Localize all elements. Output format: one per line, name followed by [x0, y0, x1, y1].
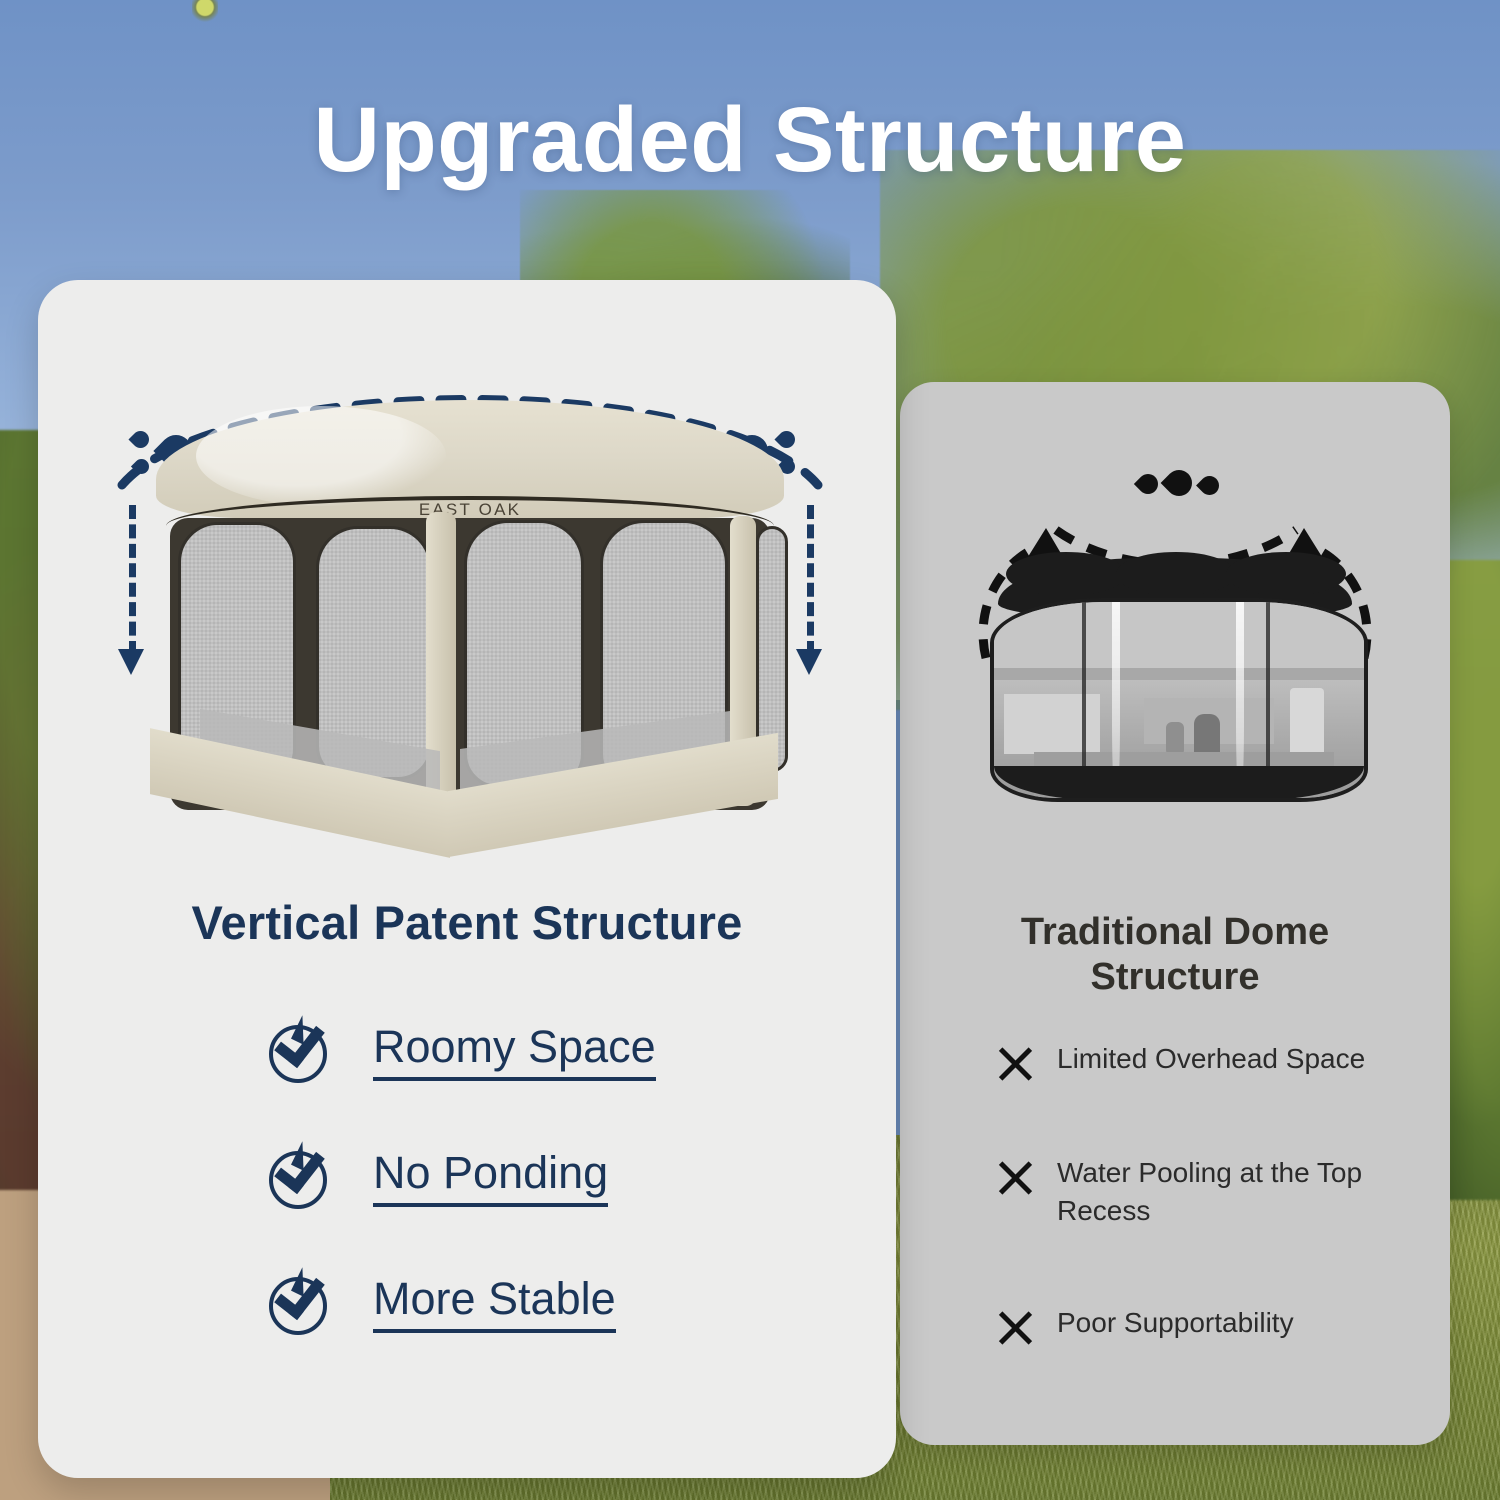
page-title: Upgraded Structure: [0, 88, 1500, 193]
right-heading-line-2: Structure: [900, 955, 1450, 1000]
left-card-heading: Vertical Patent Structure: [38, 895, 896, 950]
benefits-list: Roomy Space No Ponding More Stable: [265, 1015, 825, 1393]
x-mark-icon: [995, 1044, 1035, 1084]
list-item: Water Pooling at the Top Recess: [995, 1154, 1415, 1246]
dome-graphic: [990, 558, 1360, 806]
drawback-label: Water Pooling at the Top Recess: [1057, 1154, 1415, 1230]
infographic-canvas: Upgraded Structure: [0, 0, 1500, 1500]
brand-label: EAST OAK: [130, 500, 810, 520]
drawback-label: Poor Supportability: [1057, 1304, 1415, 1342]
right-card-heading: Traditional Dome Structure: [900, 910, 1450, 1000]
x-mark-icon: [995, 1158, 1035, 1198]
list-item: Roomy Space: [265, 1015, 825, 1141]
drawback-label: Limited Overhead Space: [1057, 1040, 1415, 1078]
list-item: More Stable: [265, 1267, 825, 1393]
gazebo-graphic: EAST OAK: [130, 400, 810, 860]
benefit-label: Roomy Space: [373, 1021, 656, 1081]
checkmark-circle-icon: [265, 1145, 327, 1207]
x-mark-icon: [995, 1308, 1035, 1348]
drawbacks-list: Limited Overhead Space Water Pooling at …: [995, 1040, 1415, 1418]
water-droplet-icon: [1196, 472, 1223, 499]
vertical-gazebo-illustration: EAST OAK: [100, 345, 840, 865]
benefit-label: No Ponding: [373, 1147, 608, 1207]
list-item: No Ponding: [265, 1141, 825, 1267]
traditional-dome-illustration: [960, 470, 1390, 820]
list-item: Poor Supportability: [995, 1304, 1415, 1360]
water-droplet-icon: [1134, 470, 1162, 498]
checkmark-circle-icon: [265, 1271, 327, 1333]
kite-object: [192, 0, 218, 24]
list-item: Limited Overhead Space: [995, 1040, 1415, 1096]
right-heading-line-1: Traditional Dome: [900, 910, 1450, 955]
checkmark-circle-icon: [265, 1019, 327, 1081]
dome-screen-walls: [990, 598, 1368, 802]
water-droplet-icon: [1161, 465, 1198, 502]
benefit-label: More Stable: [373, 1273, 616, 1333]
